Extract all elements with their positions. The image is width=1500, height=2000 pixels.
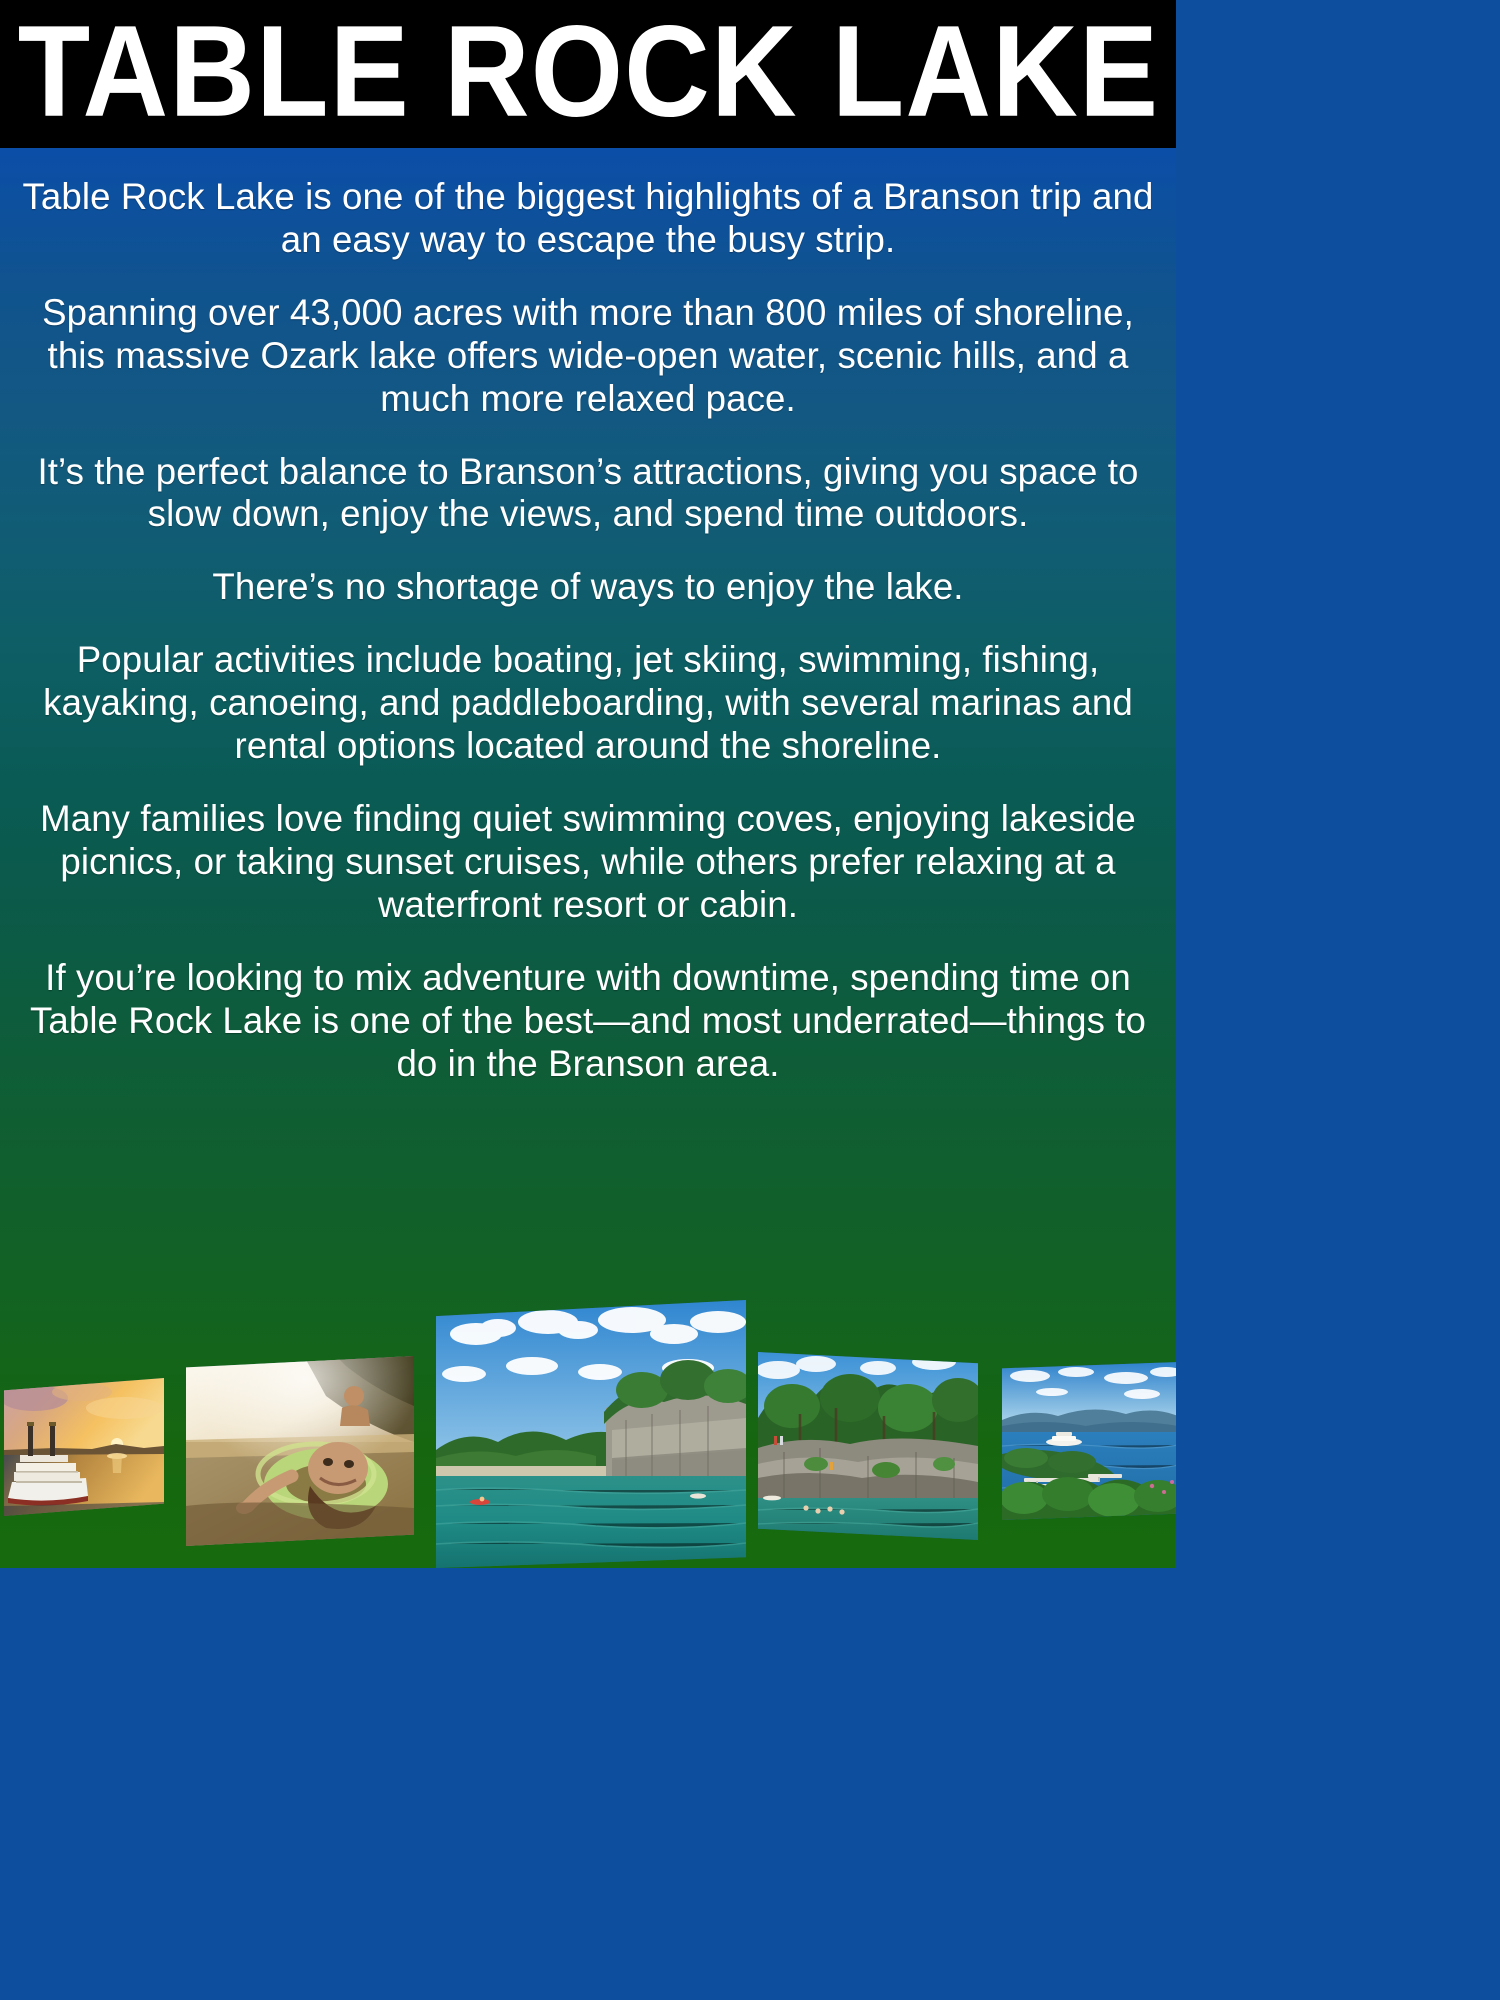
- body-copy: Table Rock Lake is one of the biggest hi…: [0, 148, 1176, 1085]
- paragraph-closing: If you’re looking to mix adventure with …: [14, 957, 1162, 1086]
- paragraph-intro: Table Rock Lake is one of the biggest hi…: [14, 176, 1162, 262]
- paragraph-balance: It’s the perfect balance to Branson’s at…: [14, 451, 1162, 537]
- paragraph-families: Many families love finding quiet swimmin…: [14, 798, 1162, 927]
- poster: TABLE ROCK LAKE Table Rock Lake is one o…: [0, 0, 1176, 1568]
- bluff-swimmers-photo: [758, 1352, 978, 1540]
- float-tube-photo: [186, 1356, 414, 1546]
- page-title: TABLE ROCK LAKE: [17, 7, 1158, 142]
- photo-strip: [0, 1268, 1176, 1568]
- paragraph-ways: There’s no shortage of ways to enjoy the…: [14, 566, 1162, 609]
- sunset-showboat-photo: [4, 1378, 164, 1516]
- poster-header: TABLE ROCK LAKE: [0, 0, 1176, 148]
- paragraph-size: Spanning over 43,000 acres with more tha…: [14, 292, 1162, 421]
- paragraph-activities: Popular activities include boating, jet …: [14, 639, 1162, 768]
- lake-overlook-photo: [1002, 1362, 1176, 1520]
- limestone-bluff-photo: [436, 1300, 746, 1568]
